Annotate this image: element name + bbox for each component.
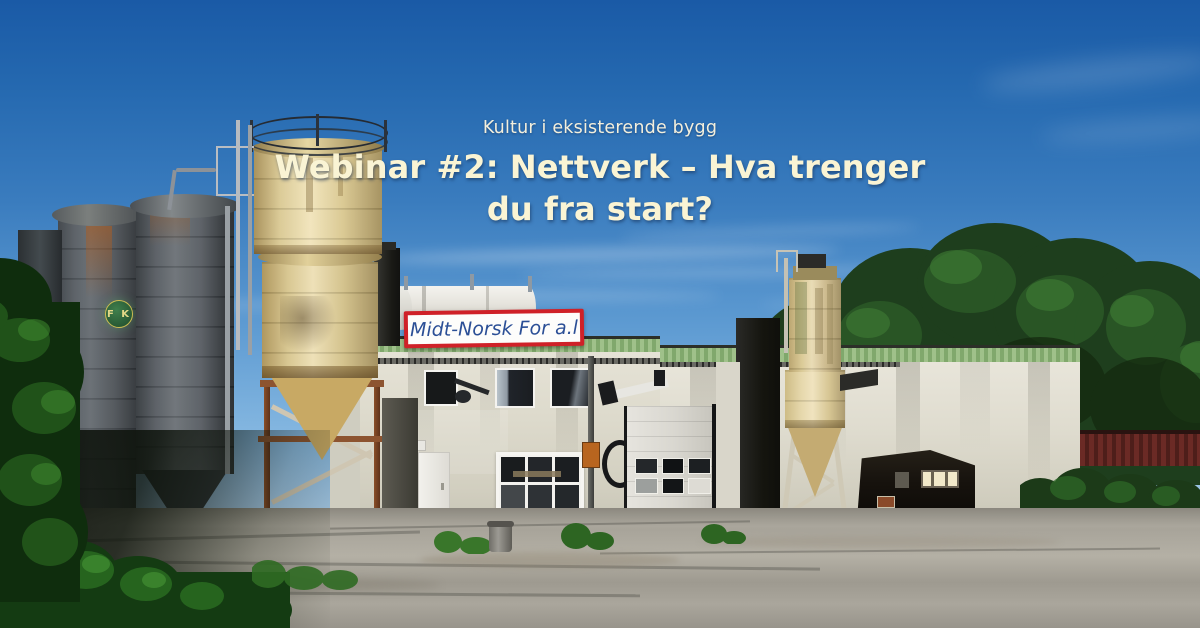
silo-right-top — [793, 266, 837, 280]
hoist-mount — [654, 370, 665, 386]
grass-tuft — [434, 520, 494, 554]
grass-tuft — [252, 540, 362, 590]
silo-ladder-rail — [784, 258, 788, 353]
building-sign: Midt-Norsk For a.l — [404, 309, 584, 349]
silo-cone-right — [787, 425, 843, 497]
tree-left-foreground — [0, 212, 135, 612]
machinery-window — [921, 470, 959, 488]
grass-tuft — [700, 516, 748, 544]
caption-eyebrow: Kultur i eksisterende bygg — [0, 118, 1200, 138]
wall-lamp-head — [455, 390, 471, 403]
silo-right-upper — [789, 278, 841, 372]
electrical-box — [582, 442, 600, 468]
tank-rail-post — [470, 274, 474, 290]
building-sign-text: Midt-Norsk For a.l — [410, 316, 578, 340]
fence-cap — [1080, 430, 1200, 434]
window-upper-right — [550, 368, 590, 408]
tank-rail-post — [404, 276, 408, 290]
webinar-banner: F K Midt-N — [0, 0, 1200, 628]
grass-tuft — [560, 514, 616, 550]
window-upper-left — [424, 370, 458, 406]
window-ground-large — [496, 452, 584, 514]
dark-structure-column — [736, 318, 780, 524]
caption-headline-line2: du fra start? — [0, 188, 1200, 230]
window-upper-middle — [495, 368, 535, 408]
silo-top-hatch — [798, 254, 826, 268]
cable-tray — [360, 358, 660, 364]
caption-block: Kultur i eksisterende bygg Webinar #2: N… — [0, 118, 1200, 230]
silo-main-lower — [262, 262, 378, 378]
tank-rail-post — [528, 276, 532, 292]
downpipe — [588, 356, 594, 521]
trash-bin — [489, 524, 512, 552]
caption-headline-line1: Webinar #2: Nettverk – Hva trenger — [0, 146, 1200, 188]
white-wall-strip — [716, 362, 740, 522]
shadow-structure — [382, 398, 418, 526]
silo-right-lower — [785, 370, 845, 428]
silo-ladder-cage — [776, 250, 798, 272]
garage-door[interactable] — [624, 406, 716, 522]
cable-tray-right — [660, 362, 900, 367]
